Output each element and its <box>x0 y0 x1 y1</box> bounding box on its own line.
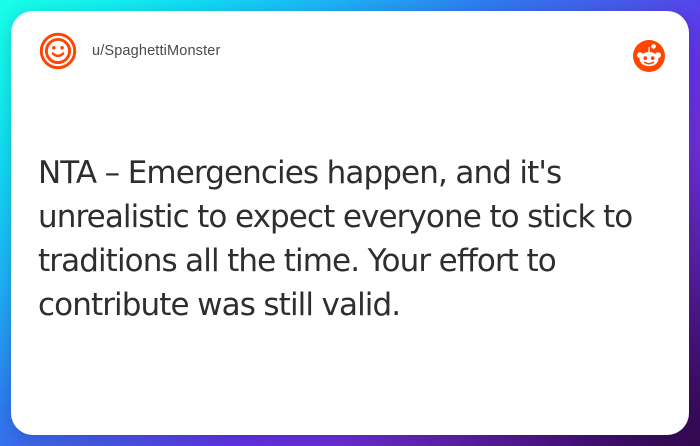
author-identity[interactable]: u/SpaghettiMonster <box>39 32 220 70</box>
author-username: u/SpaghettiMonster <box>92 43 220 59</box>
reddit-snoo-icon[interactable] <box>633 40 665 72</box>
post-quote-text: NTA – Emergencies happen, and it's unrea… <box>38 151 662 327</box>
smiley-face-avatar-icon <box>39 32 77 70</box>
post-body: NTA – Emergencies happen, and it's unrea… <box>38 151 662 327</box>
post-header: u/SpaghettiMonster <box>11 11 689 91</box>
reddit-post-card: u/SpaghettiMonster <box>11 11 689 435</box>
gradient-background: u/SpaghettiMonster <box>0 0 700 446</box>
